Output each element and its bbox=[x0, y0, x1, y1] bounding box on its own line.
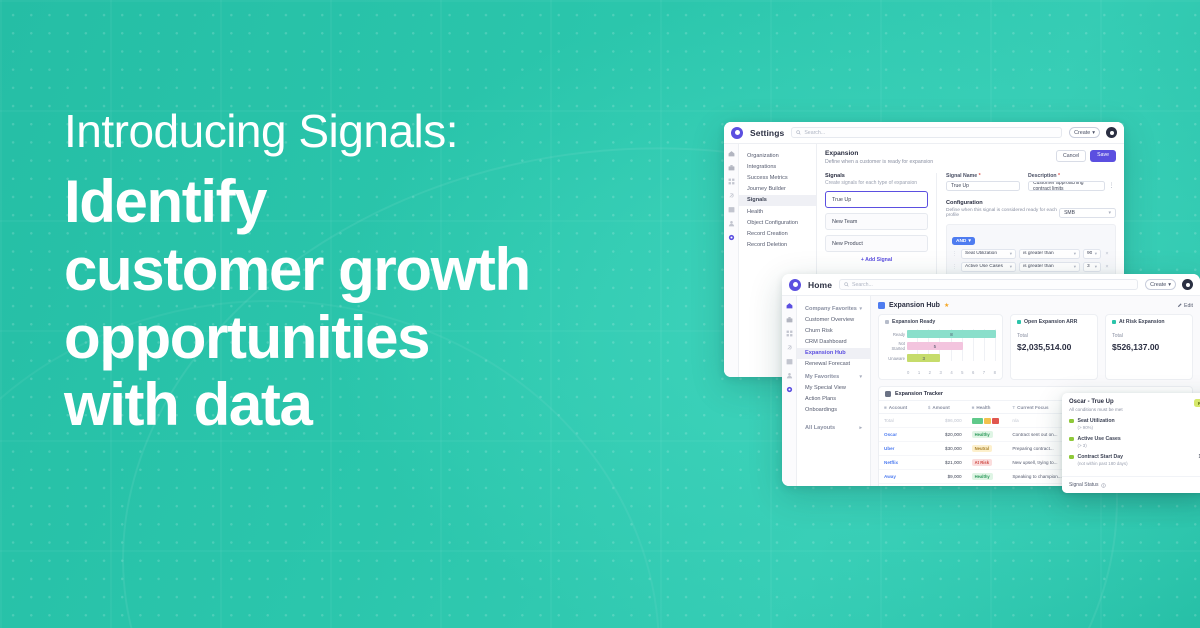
bar-row: Ready 8 bbox=[907, 329, 996, 339]
chevron-down-icon: ▾ bbox=[859, 374, 862, 380]
signal-card-new-product[interactable]: New Product bbox=[825, 235, 928, 252]
search-icon bbox=[844, 282, 849, 287]
chevron-down-icon: ▾ bbox=[1092, 130, 1095, 136]
nav-group-label: Company Favorites bbox=[805, 306, 857, 312]
condition-rule: (not within past 180 days) bbox=[1078, 461, 1128, 466]
bar-label: Unaware bbox=[885, 356, 905, 361]
home-nav[interactable]: Company Favorites ▾ Customer Overview Ch… bbox=[797, 296, 871, 486]
sidebar-item-my-special-view[interactable]: My Special View bbox=[797, 382, 870, 393]
configuration-title: Configuration bbox=[946, 200, 1059, 206]
x-tick: 1 bbox=[909, 370, 920, 375]
rule-row: ⋮ Active Use Cases▾ is greater than▾ 3▾ … bbox=[952, 262, 1110, 272]
popover-body: Oscar - True Up All conditions must be m… bbox=[1062, 393, 1200, 472]
status-badge: Healthy bbox=[972, 473, 993, 480]
cancel-button[interactable]: Cancel bbox=[1056, 150, 1086, 162]
sidebar-item-journey-builder[interactable]: Journey Builder bbox=[739, 184, 816, 195]
add-signal-button[interactable]: + Add Signal bbox=[825, 257, 928, 263]
description-label: Description * bbox=[1028, 173, 1116, 179]
sidebar-item-onboardings[interactable]: Onboardings bbox=[797, 404, 870, 415]
search-placeholder: Search... bbox=[804, 130, 825, 136]
rule-field-select[interactable]: Active Use Cases▾ bbox=[961, 262, 1016, 272]
bar-row: Not Started 5 bbox=[907, 341, 996, 351]
nav-group-company-favorites[interactable]: Company Favorites ▾ bbox=[797, 302, 870, 314]
popover-header: Oscar - True Up All conditions must be m… bbox=[1069, 399, 1200, 412]
sidebar-item-action-plans[interactable]: Action Plans bbox=[797, 393, 870, 404]
headline-eyebrow: Introducing Signals: bbox=[64, 108, 724, 154]
card-total-value: $526,137.00 bbox=[1112, 342, 1186, 352]
more-options-icon[interactable]: ⋮ bbox=[1107, 181, 1116, 191]
calendar-icon[interactable] bbox=[728, 206, 735, 213]
popover-subtitle: All conditions must be met bbox=[1069, 407, 1123, 412]
signal-fields-row: Signal Name * True Up Description * Cust… bbox=[946, 173, 1116, 191]
card-title: Open Expansion ARR bbox=[1024, 319, 1077, 325]
sidebar-item-expansion-hub[interactable]: Expansion Hub bbox=[797, 348, 870, 359]
settings-icon-rail[interactable] bbox=[724, 144, 739, 377]
x-tick: 8 bbox=[985, 370, 996, 375]
chevron-down-icon: ▾ bbox=[968, 239, 970, 244]
drag-handle-icon[interactable]: ⋮ bbox=[952, 251, 958, 257]
search-placeholder: Search... bbox=[852, 282, 873, 288]
nav-group-my-favorites[interactable]: My Favorites ▾ bbox=[797, 370, 870, 382]
create-button-label: Create bbox=[1074, 130, 1090, 136]
card-total-label: Total bbox=[1017, 333, 1091, 339]
create-button-label: Create bbox=[1150, 282, 1166, 288]
search-input[interactable]: Search... bbox=[839, 279, 1138, 290]
home-window-title: Home bbox=[808, 280, 832, 290]
cell-health: Healthy bbox=[967, 470, 1008, 484]
sidebar-item-signals[interactable]: Signals bbox=[739, 195, 816, 206]
headline-line-4: with data bbox=[64, 371, 724, 439]
cell-account[interactable]: Away bbox=[879, 470, 923, 484]
configuration-subtitle: Define when this signal is considered re… bbox=[946, 208, 1059, 218]
cell-health: Healthy bbox=[967, 484, 1008, 487]
bar-label: Ready bbox=[885, 332, 905, 337]
home-icon[interactable] bbox=[728, 150, 735, 157]
x-tick: 4 bbox=[942, 370, 953, 375]
status-dot-icon bbox=[1112, 320, 1116, 324]
open-expansion-arr-card: Open Expansion ARR Total $2,035,514.00 bbox=[1010, 314, 1098, 380]
favorite-star-icon[interactable]: ★ bbox=[944, 302, 949, 309]
headline-block: Introducing Signals: Identify customer g… bbox=[64, 108, 724, 439]
cell-amount: $20,000 bbox=[923, 428, 967, 442]
calendar-icon[interactable] bbox=[786, 358, 793, 365]
gear-icon[interactable] bbox=[728, 234, 735, 241]
app-logo-icon bbox=[789, 279, 801, 291]
sidebar-item-customer-overview[interactable]: Customer Overview bbox=[797, 314, 870, 325]
summary-cards-row: Expansion Ready Ready 8 Not Started bbox=[878, 314, 1193, 380]
cell-account[interactable]: Netflix bbox=[879, 456, 923, 470]
remove-rule-icon[interactable]: × bbox=[1104, 264, 1110, 270]
info-icon[interactable] bbox=[1101, 483, 1106, 488]
cell-health: At Risk bbox=[967, 456, 1008, 470]
condition-met-icon bbox=[1069, 455, 1074, 460]
signal-card-new-team[interactable]: New Team bbox=[825, 213, 928, 230]
cell-account[interactable]: Doordash bbox=[879, 484, 923, 487]
cell-amount: $96,000 bbox=[923, 414, 967, 428]
nav-group-all-layouts[interactable]: All Layouts ▸ bbox=[797, 421, 870, 433]
card-total-label: Total bbox=[1112, 333, 1186, 339]
avatar[interactable] bbox=[1182, 279, 1193, 290]
bar-value: 3 bbox=[907, 354, 940, 363]
bar-row: Unaware 3 bbox=[907, 353, 996, 363]
pencil-icon bbox=[1177, 303, 1182, 308]
condition-name: Active Use Cases bbox=[1078, 436, 1121, 442]
page-title: Identify customer growth opportunities w… bbox=[64, 168, 724, 439]
briefcase-icon[interactable] bbox=[728, 164, 735, 171]
card-header: Open Expansion ARR bbox=[1017, 319, 1091, 325]
condition-rule: (> 3) bbox=[1078, 443, 1121, 448]
sidebar-item-health[interactable]: Health bbox=[739, 206, 816, 217]
home-icon-rail[interactable] bbox=[782, 296, 797, 486]
settings-topbar: Settings Search... Create ▾ bbox=[724, 122, 1124, 144]
link-icon[interactable] bbox=[728, 192, 735, 199]
description-field-wrap: Description * Customer approaching contr… bbox=[1028, 173, 1116, 191]
search-icon bbox=[796, 130, 801, 135]
bar-chart: Ready 8 Not Started 5 Unaware 3 bbox=[885, 329, 996, 369]
x-tick: 6 bbox=[963, 370, 974, 375]
card-total-value: $2,035,514.00 bbox=[1017, 342, 1091, 352]
grid-icon[interactable] bbox=[728, 178, 735, 185]
headline-line-1: Identify bbox=[64, 168, 724, 236]
sidebar-item-churn-risk[interactable]: Churn Risk bbox=[797, 325, 870, 336]
status-badge: Healthy bbox=[972, 431, 993, 438]
create-button[interactable]: Create ▾ bbox=[1069, 127, 1100, 138]
headline-line-3: opportunities bbox=[64, 304, 724, 372]
cell-amount: $16,000 bbox=[923, 484, 967, 487]
status-dot-icon bbox=[1017, 320, 1021, 324]
board-title: Expansion Hub bbox=[889, 302, 940, 309]
signal-name-field-wrap: Signal Name * True Up bbox=[946, 173, 1020, 191]
rule-operator-select[interactable]: is greater than▾ bbox=[1019, 249, 1080, 259]
cell-health: Healthy bbox=[967, 428, 1008, 442]
at-risk-expansion-card: At Risk Expansion Total $526,137.00 bbox=[1105, 314, 1193, 380]
bar-value: 5 bbox=[907, 342, 963, 351]
logic-operator-toggle[interactable]: AND ▾ bbox=[952, 237, 975, 245]
rule-field-select[interactable]: Seat Utilization▾ bbox=[961, 249, 1016, 259]
scope-select[interactable]: SMB ▾ bbox=[1059, 208, 1116, 218]
status-badge: Neutral bbox=[972, 445, 992, 452]
nav-group-label: My Favorites bbox=[805, 374, 839, 380]
x-tick: 3 bbox=[931, 370, 942, 375]
column-header-account[interactable]: ■Account bbox=[879, 401, 923, 414]
signal-name-input[interactable]: True Up bbox=[946, 181, 1020, 191]
signal-card-true-up[interactable]: True Up bbox=[825, 191, 928, 208]
create-button[interactable]: Create ▾ bbox=[1145, 279, 1176, 290]
rule-value-input[interactable]: 3▾ bbox=[1083, 262, 1101, 272]
board-icon bbox=[878, 302, 885, 309]
signals-panel-subtitle: Create signals for each type of expansio… bbox=[825, 180, 928, 186]
sidebar-item-success-metrics[interactable]: Success Metrics bbox=[739, 172, 816, 183]
rule-row: ⋮ Seat Utilization▾ is greater than▾ 90▾… bbox=[952, 249, 1110, 259]
cell-account: Total bbox=[879, 414, 923, 428]
drag-handle-icon[interactable]: ⋮ bbox=[952, 264, 958, 270]
expansion-header: Expansion Define when a customer is read… bbox=[825, 150, 1116, 165]
sidebar-item-integrations[interactable]: Integrations bbox=[739, 161, 816, 172]
cell-account[interactable]: Oscar bbox=[879, 428, 923, 442]
briefcase-icon[interactable] bbox=[786, 316, 793, 323]
expansion-ready-chart-card: Expansion Ready Ready 8 Not Started bbox=[878, 314, 1003, 380]
remove-rule-icon[interactable]: × bbox=[1104, 251, 1110, 257]
grid-icon[interactable] bbox=[786, 330, 793, 337]
settings-topbar-actions: Create ▾ bbox=[1069, 127, 1117, 138]
description-input[interactable]: Customer approaching contract limits bbox=[1028, 181, 1105, 191]
chevron-down-icon: ▾ bbox=[1168, 282, 1171, 288]
bar-label: Not Started bbox=[885, 341, 905, 351]
chart-title: Expansion Ready bbox=[892, 319, 935, 325]
x-tick: 2 bbox=[920, 370, 931, 375]
cell-amount: $30,000 bbox=[923, 442, 967, 456]
column-header-health[interactable]: ■Health bbox=[967, 401, 1008, 414]
save-button[interactable]: Save bbox=[1090, 150, 1116, 162]
scope-select-value: SMB bbox=[1064, 210, 1075, 216]
sidebar-item-record-deletion[interactable]: Record Deletion bbox=[739, 240, 816, 251]
nav-group-label: All Layouts bbox=[805, 425, 835, 431]
cell-amount: $21,000 bbox=[923, 456, 967, 470]
home-topbar: Home Search... Create ▾ bbox=[782, 274, 1200, 296]
sidebar-item-renewal-forecast[interactable]: Renewal Forecast bbox=[797, 359, 870, 370]
home-icon[interactable] bbox=[786, 302, 793, 309]
signals-panel-label: Signals bbox=[825, 173, 928, 179]
configuration-header: Configuration Define when this signal is… bbox=[946, 200, 1116, 218]
chart-card-header: Expansion Ready bbox=[885, 319, 996, 325]
app-logo-icon bbox=[731, 127, 743, 139]
status-badge: At Risk bbox=[972, 459, 992, 466]
table-icon bbox=[885, 391, 891, 397]
person-icon[interactable] bbox=[786, 372, 793, 379]
sidebar-item-crm-dashboard[interactable]: CRM Dashboard bbox=[797, 336, 870, 347]
cell-amount: $9,000 bbox=[923, 470, 967, 484]
rule-value-input[interactable]: 90▾ bbox=[1083, 249, 1101, 259]
section-title: Expansion bbox=[825, 150, 933, 157]
cell-health: Neutral bbox=[967, 442, 1008, 456]
popover-title: Oscar - True Up bbox=[1069, 399, 1123, 405]
chart-x-axis: 0 1 2 3 4 5 6 7 8 bbox=[885, 370, 996, 375]
card-title: At Risk Expansion bbox=[1119, 319, 1165, 325]
column-header-amount[interactable]: $Amount bbox=[923, 401, 967, 414]
condition-name: Seat Utilization bbox=[1078, 418, 1115, 424]
card-header: At Risk Expansion bbox=[1112, 319, 1186, 325]
sidebar-item-record-creation[interactable]: Record Creation bbox=[739, 228, 816, 239]
section-subtitle: Define when a customer is ready for expa… bbox=[825, 159, 933, 165]
rule-operator-select[interactable]: is greater than▾ bbox=[1019, 262, 1080, 272]
signal-detail-popover[interactable]: Oscar - True Up All conditions must be m… bbox=[1062, 393, 1200, 493]
logic-operator-label: AND bbox=[956, 239, 966, 244]
cell-account[interactable]: Uber bbox=[879, 442, 923, 456]
avatar[interactable] bbox=[1106, 127, 1117, 138]
chart-icon bbox=[885, 320, 889, 324]
condition-rule: (> 90%) bbox=[1078, 425, 1115, 430]
chevron-down-icon: ▾ bbox=[1108, 210, 1111, 216]
edit-button-label: Edit bbox=[1184, 303, 1193, 309]
link-icon[interactable] bbox=[786, 344, 793, 351]
chevron-down-icon: ▾ bbox=[859, 306, 862, 312]
bar-value: 8 bbox=[907, 330, 996, 339]
x-tick: 5 bbox=[953, 370, 964, 375]
settings-window-title: Settings bbox=[750, 128, 784, 138]
condition-row: Seat Utilization (> 90%) 92% bbox=[1069, 418, 1200, 430]
gear-icon[interactable] bbox=[786, 386, 793, 393]
condition-met-icon bbox=[1069, 437, 1074, 442]
home-topbar-actions: Create ▾ bbox=[1145, 279, 1193, 290]
signal-status-label: Signal Status bbox=[1069, 482, 1098, 488]
x-tick: 7 bbox=[974, 370, 985, 375]
sidebar-item-object-configuration[interactable]: Object Configuration bbox=[739, 217, 816, 228]
condition-row: Contract Start Day (not within past 180 … bbox=[1069, 454, 1200, 466]
header-actions: Cancel Save bbox=[1056, 150, 1116, 162]
tracker-title: Expansion Tracker bbox=[895, 391, 943, 397]
chevron-right-icon: ▸ bbox=[859, 425, 862, 431]
sidebar-item-organization[interactable]: Organization bbox=[739, 150, 816, 161]
board-header: Expansion Hub ★ Edit bbox=[878, 302, 1193, 309]
popover-footer: Signal Status bbox=[1062, 476, 1200, 493]
condition-name: Contract Start Day bbox=[1078, 454, 1128, 460]
edit-button[interactable]: Edit bbox=[1177, 303, 1193, 309]
condition-row: Active Use Cases (> 3) 4 bbox=[1069, 436, 1200, 448]
signal-name-label: Signal Name * bbox=[946, 173, 1020, 179]
condition-met-icon bbox=[1069, 419, 1074, 424]
cell-health-summary bbox=[967, 414, 1008, 428]
headline-line-2: customer growth bbox=[64, 236, 724, 304]
search-input[interactable]: Search... bbox=[791, 127, 1062, 138]
status-badge: Ready bbox=[1194, 399, 1200, 407]
person-icon[interactable] bbox=[728, 220, 735, 227]
